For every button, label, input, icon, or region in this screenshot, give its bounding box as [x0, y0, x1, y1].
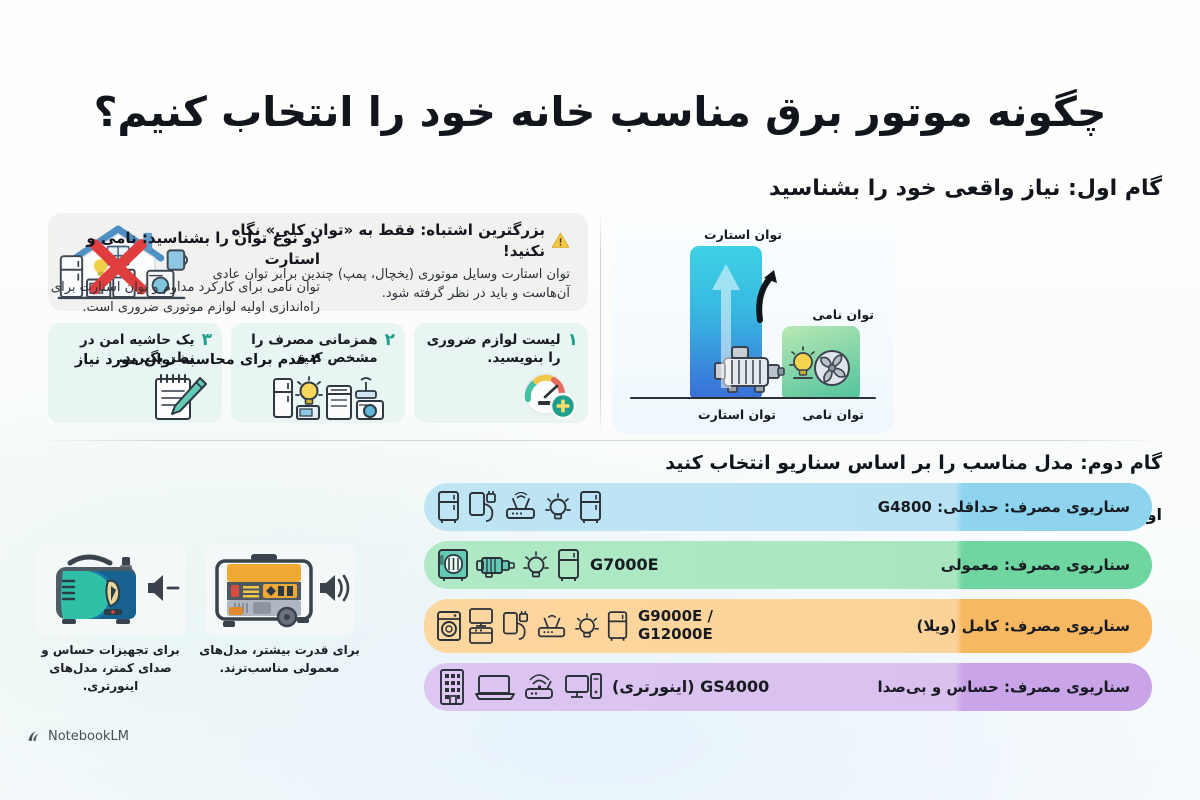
desktop-computer-icon [564, 671, 604, 703]
lightbulb-fan-icon [788, 338, 854, 396]
scenario-4-model: (اینورتری) GS4000 [612, 678, 779, 696]
scenario-list: سناریوی مصرف: حداقلی: G4800 [424, 483, 1152, 721]
warning-triangle-icon [551, 231, 570, 250]
vertical-divider [600, 212, 601, 434]
phone-charger-icon [468, 490, 498, 524]
scenario-4-label: سناریوی مصرف: حساس و بی‌صدا [878, 678, 1152, 696]
scenario-1-label: سناریوی مصرف: حداقلی: G4800 [878, 498, 1152, 516]
generator-inverter-caption: برای تجهیزات حساس و صدای کمتر، مدل‌های ا… [30, 641, 191, 695]
generator-conventional-column: برای قدرت بیشتر، مدل‌های معمولی مناسب‌تر… [199, 545, 360, 695]
air-cooler-icon [436, 547, 470, 583]
calculation-steps-title: ۳ قدم برای محاسبه توان مورد نیاز [38, 352, 320, 368]
horizontal-divider [36, 440, 1164, 441]
infographic-page: چگونه موتور برق مناسب خانه خود را انتخاب… [0, 0, 1200, 800]
generator-conventional-caption: برای قدرت بیشتر، مدل‌های معمولی مناسب‌تر… [199, 641, 360, 677]
generator-inverter-column: برای تجهیزات حساس و صدای کمتر، مدل‌های ا… [30, 545, 191, 695]
chart-label-nominal-top: توان نامی [812, 307, 874, 322]
step-card-2: ۲ همزمانی مصرف را مشخص کنید. [231, 323, 405, 423]
wifi-router-icon [522, 671, 558, 703]
lightbulb-icon [574, 610, 600, 642]
chart-label-start-bottom: توان استارت [698, 407, 776, 422]
scenario-1-icons [424, 490, 612, 524]
conventional-generator-icon [205, 545, 355, 635]
chart-axis-line [630, 397, 876, 399]
step-3-number: ۳ [202, 331, 212, 351]
power-types-body: توان نامی برای کارکرد مداوم و توان استار… [38, 278, 320, 318]
chart-label-nominal-bottom: توان نامی [802, 407, 864, 422]
notebooklm-logo-icon [26, 728, 42, 744]
chart-inner: توان نامی توان استارت توان نامی توان است… [612, 213, 894, 434]
scenario-2-icons [424, 547, 590, 583]
office-building-icon [436, 668, 468, 706]
scenario-3-icons [424, 607, 638, 645]
inverter-generator-icon [36, 545, 186, 635]
page-title: چگونه موتور برق مناسب خانه خود را انتخاب… [0, 88, 1200, 136]
tv-stove-icon [468, 607, 496, 645]
step-card-3: ۳ یک حاشیه امن در نظر بگیرید. [48, 323, 222, 423]
step-2-number: ۲ [385, 331, 395, 351]
step-1-label: لیست لوازم ضروری را بنویسید. [424, 331, 561, 367]
scenario-row-normal[interactable]: سناریوی مصرف: معمولی G7000E [424, 541, 1152, 589]
router-icon [536, 611, 568, 641]
phone-charger-icon [502, 609, 530, 643]
step-card-1: ۱ لیست لوازم ضروری را بنویسید. [414, 323, 588, 423]
scenario-3-model: G9000E / G12000E [638, 608, 723, 643]
footer-branding: NotebookLM [26, 728, 129, 744]
fridge-icon [606, 609, 630, 643]
fridge-icon [436, 490, 462, 524]
generator-conventional-art [199, 545, 360, 635]
laptop-icon [474, 672, 516, 702]
lightbulb-icon [544, 491, 572, 523]
scenario-row-minimal[interactable]: سناریوی مصرف: حداقلی: G4800 [424, 483, 1152, 531]
scenario-row-full-villa[interactable]: سناریوی مصرف: کامل (ویلا) G9000E / G1200… [424, 599, 1152, 653]
washing-machine-icon [436, 609, 462, 643]
water-pump-icon [476, 549, 516, 581]
scenario-2-label: سناریوی مصرف: معمولی [941, 556, 1152, 574]
notepad-pencil-icon [150, 373, 210, 421]
steps-row: ۱ لیست لوازم ضروری را بنویسید. ۲ همزمانی… [48, 323, 588, 423]
scenario-4-icons [424, 668, 612, 706]
power-types-title: دو نوع توان را بشناسید: نامی و استارت [38, 228, 320, 270]
step-1-row: ۱ لیست لوازم ضروری را بنویسید. [424, 331, 578, 367]
upward-power-arrow [704, 256, 748, 394]
step-1-number: ۱ [568, 331, 578, 351]
chart-label-start-top: توان استارت [704, 227, 782, 242]
scenario-2-model: G7000E [590, 556, 669, 574]
generator-comparison: برای قدرت بیشتر، مدل‌های معمولی مناسب‌تر… [30, 545, 360, 695]
scenario-row-sensitive-quiet[interactable]: سناریوی مصرف: حساس و بی‌صدا (اینورتری) G… [424, 663, 1152, 711]
section-two-heading: گام دوم: مدل مناسب را بر اساس سناریو انت… [665, 452, 1162, 474]
appliances-icon [271, 373, 399, 421]
scenario-3-label: سناریوی مصرف: کامل (ویلا) [916, 617, 1152, 635]
gauge-plus-icon [518, 369, 580, 421]
footer-label: NotebookLM [48, 729, 129, 744]
growth-arrow-icon [750, 262, 784, 324]
section-one-heading: گام اول: نیاز واقعی خود را بشناسید [769, 176, 1162, 201]
power-types-block: دو نوع توان را بشناسید: نامی و استارت تو… [38, 228, 320, 318]
generator-inverter-art [30, 545, 191, 635]
power-comparison-chart: توان نامی توان استارت توان نامی توان است… [612, 213, 894, 434]
fridge-icon [556, 548, 582, 582]
router-icon [504, 492, 538, 522]
lightbulb-icon [522, 549, 550, 581]
fridge-icon [578, 490, 604, 524]
